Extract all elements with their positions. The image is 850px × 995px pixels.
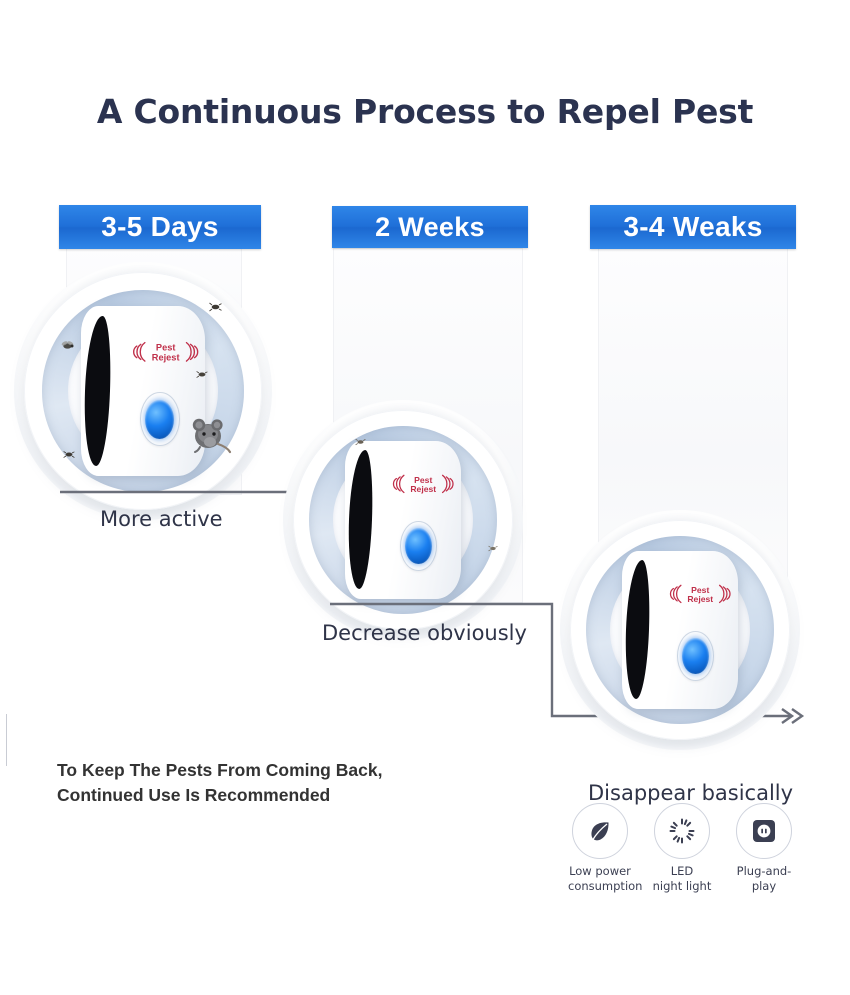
device-body: Pest Rejest [345,441,460,599]
device-stage-1: Pest Rejest [14,262,272,520]
leaf-icon [586,817,614,845]
stage-badge-3[interactable]: 3-4 Weaks [590,205,796,249]
led-burst-icon [668,817,696,845]
logo-text-bottom: Rejest [411,484,437,494]
logo-text-top: Pest [156,343,176,353]
infographic-page: A Continuous Process to Repel Pest 3-5 D… [0,0,850,995]
pest-roach [196,370,208,379]
stage-badge-2[interactable]: 2 Weeks [332,206,528,248]
feature-label: Plug-and-play [732,864,796,893]
pest-roach [63,450,75,459]
power-socket-icon [750,817,778,845]
logo-text-top: Pest [415,475,433,485]
pest-roach [209,302,222,312]
feature-icon-circle [736,803,792,859]
device-vent-slot [82,316,112,466]
logo-text-bottom: Rejest [688,594,714,604]
device-stage-3: Pest Rejest [560,510,800,750]
logo-text-bottom: Rejest [151,353,179,363]
feature-label: LED night light [650,864,714,893]
pest-reject-logo: Pest Rejest [668,581,733,607]
feature-icon-circle [572,803,628,859]
pest-roach [355,438,366,446]
pest-roach [488,545,498,552]
stage-caption-3: Disappear basically [588,781,793,805]
pest-fly [60,340,75,351]
pest-mouse [186,414,232,454]
footer-note: To Keep The Pests From Coming Back, Cont… [57,758,382,808]
device-vent-slot [346,450,374,589]
device-vent-slot [623,560,651,699]
led-indicator[interactable] [682,638,708,674]
feature-label: Low power consumption [568,864,632,893]
led-indicator[interactable] [405,528,431,564]
stage-badge-1[interactable]: 3-5 Days [59,205,261,249]
pest-reject-logo: Pest Rejest [391,471,456,497]
logo-text-top: Pest [692,585,710,595]
device-body: Pest Rejest [622,551,737,709]
led-indicator[interactable] [145,400,173,439]
left-edge-tick [6,714,7,766]
page-title: A Continuous Process to Repel Pest [0,92,850,131]
feature-icon-circle [654,803,710,859]
feature-led-night-light[interactable]: LED night light [650,803,714,893]
pest-reject-logo: Pest Rejest [131,338,200,366]
feature-plug-and-play[interactable]: Plug-and-play [732,803,796,893]
feature-list: Low power consumption [568,803,796,893]
feature-low-power[interactable]: Low power consumption [568,803,632,893]
